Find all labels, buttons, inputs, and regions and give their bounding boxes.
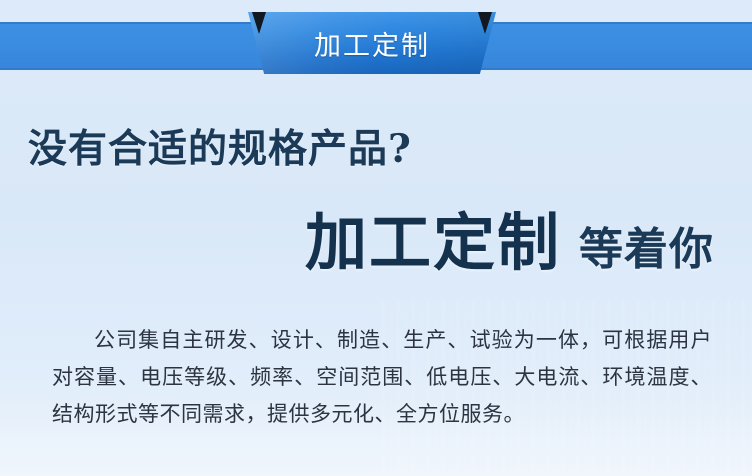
ribbon-notch-right-icon <box>478 12 492 34</box>
headline-row: 加工定制 等着你 <box>0 192 752 282</box>
ribbon-notch-left-icon <box>252 12 266 34</box>
header-ribbon: 加工定制 <box>248 12 496 74</box>
headline-main-title: 加工定制 <box>305 192 561 282</box>
headline-question: 没有合适的规格产品? <box>28 118 412 174</box>
headline-tail-text: 等着你 <box>579 213 714 277</box>
body-copy: 公司集自主研发、设计、制造、生产、试验为一体，可根据用户对容量、电压等级、频率、… <box>52 322 712 433</box>
ribbon-label: 加工定制 <box>314 24 430 63</box>
body-paragraph: 公司集自主研发、设计、制造、生产、试验为一体，可根据用户对容量、电压等级、频率、… <box>52 322 712 433</box>
promo-page: 加工定制 没有合适的规格产品? 加工定制 等着你 公司集自主研发、设计、制造、生… <box>0 0 752 476</box>
